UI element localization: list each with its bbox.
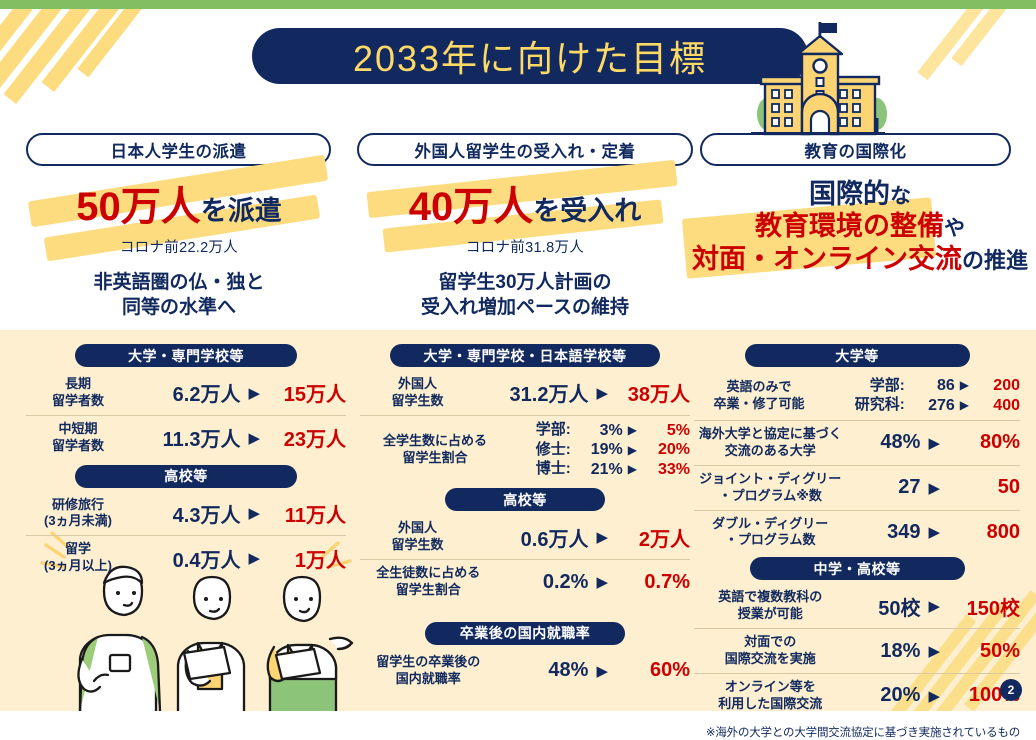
hero-subtext-line1: 非英語圏の仏・独と [20,270,338,295]
hero-headline: 40万人を受入れ [357,186,693,229]
row-label: 外国人留学生数 [360,376,475,410]
school-building-illustration [745,22,890,140]
arrow-icon: ▶ [596,573,608,591]
slide-title-pill: 2033年に向けた目標 [252,28,808,84]
category-pill: 大学・専門学校等 [75,344,297,367]
page-number: 2 [1000,679,1022,701]
row-label: 海外大学と協定に基づく交流のある大学 [694,426,846,460]
decorative-stripes-top-right [916,0,1036,130]
category-pill: 高校等 [75,465,297,488]
value-target: 23万人 [268,423,346,452]
category-pill: 大学・専門学校・日本語学校等 [390,344,660,367]
hero-headline: 50万人を派遣 [20,186,338,229]
row-values: 48% ▶ 60% [496,659,690,682]
hero-number: 40万人 [409,185,534,229]
value-target: 400 [974,396,1020,416]
row-label: ジョイント・ディグリー・プログラム※数 [694,471,846,505]
value-current: 11.3万人 [148,423,240,452]
hero-block-acceptance: 40万人を受入れ コロナ前31.8万人 留学生30万人計画の 受入れ増加ペースの… [357,186,693,321]
value-current: 18% [846,640,920,663]
table-row-multi: 全学生数に占める留学生割合 学部: 3% ▶ 5% 修士: 19% ▶ 20% … [360,415,690,485]
arrow-icon: ▶ [960,378,969,393]
value-target: 0.7% [616,571,690,594]
value-current: 19% [571,440,623,460]
row-values: 0.4万人 ▶ 1万人 [148,544,346,573]
arrow-icon: ▶ [628,462,637,477]
top-green-bar [0,0,1036,9]
value-target: 200 [974,376,1020,396]
table-row: 中短期留学者数 11.3万人 ▶ 23万人 [26,415,346,460]
arrow-icon: ▶ [928,687,940,705]
hero-suffix: を受入れ [533,196,641,226]
value-current: 48% [496,659,588,682]
hero-block-dispatch: 50万人を派遣 コロナ前22.2万人 非英語圏の仏・独と 同等の水準へ [20,186,338,321]
table-row: 研修旅行(3ヵ月未満) 4.3万人 ▶ 11万人 [26,492,346,536]
hero-line3-main: 対面・オンライン交流 [692,244,962,274]
table-row: ジョイント・ディグリー・プログラム※数 27 ▶ 50 [694,465,1020,510]
hero-subtext-line1: 留学生30万人計画の [357,270,693,295]
arrow-icon: ▶ [928,479,940,497]
value-current: 0.6万人 [496,523,588,552]
value-current: 31.2万人 [496,378,588,407]
category-label: 中学・高校等 [814,559,901,579]
table-row: 全生徒数に占める留学生割合 0.2% ▶ 0.7% [360,559,690,604]
value-current: 86 [905,376,955,396]
hero-suffix: を派遣 [201,196,282,226]
value-target: 33% [642,460,690,480]
table-row: 対面での国際交流を実施 18% ▶ 50% [694,628,1020,673]
row-values: 50校 ▶ 150校 [846,592,1020,621]
value-current: 3% [571,421,623,441]
arrow-icon: ▶ [596,528,608,546]
hero-subtext-line2: 同等の水準へ [20,295,338,320]
row-label: 中短期留学者数 [26,421,130,455]
hero-subtext-line2: 受入れ増加ペースの維持 [357,295,693,320]
arrow-icon: ▶ [928,642,940,660]
value-current: 0.4万人 [148,544,240,573]
arrow-icon: ▶ [928,523,940,541]
value-current: 349 [846,521,920,544]
row-label: 英語のみで卒業・修了可能 [694,379,824,413]
section-header-acceptance: 外国人留学生の受入れ・定着 [357,133,693,166]
row-label: 長期留学者数 [26,376,130,410]
data-column-acceptance: 大学・専門学校・日本語学校等 外国人留学生数 31.2万人 ▶ 38万人 全学生… [360,344,690,693]
sub-row: 学部: 86 ▶ 200 [835,376,1020,396]
table-row: 長期留学者数 6.2万人 ▶ 15万人 [26,371,346,415]
slide-title: 2033年に向けた目標 [353,30,707,82]
row-label: ダブル・ディグリー・プログラム数 [694,516,846,550]
value-target: 38万人 [616,378,690,407]
value-target: 2万人 [616,523,690,552]
data-column-internationalization: 大学等 英語のみで卒業・修了可能 学部: 86 ▶ 200 研究科: 276 ▶… [694,344,1020,740]
hero-line3-particle: の推進 [962,248,1028,273]
footnote: ※海外の大学との大学間交流協定に基づき実施されているもの [694,724,1020,740]
arrow-icon: ▶ [248,549,260,567]
row-values: 0.6万人 ▶ 2万人 [496,523,690,552]
value-target: 15万人 [268,378,346,407]
hero-line1: 国際的な [690,178,1030,210]
value-target: 5% [642,421,690,441]
category-label: 大学・専門学校・日本語学校等 [424,346,627,366]
value-target: 20% [642,440,690,460]
category-pill: 高校等 [445,488,605,511]
sub-row: 学部: 3% ▶ 5% [513,421,690,441]
value-current: 48% [846,431,920,454]
hero-block-internationalization: 国際的な 教育環境の整備や 対面・オンライン交流の推進 [690,178,1030,276]
slide-root: 2033年に向けた目標 日本人学生の派遣 外国人 [0,0,1036,711]
arrow-icon: ▶ [596,384,608,402]
value-current: 27 [846,476,920,499]
row-label: 英語で複数教科の授業が可能 [694,589,846,623]
hero-precovid: コロナ前31.8万人 [357,236,693,257]
hero-line2-particle: や [944,217,965,240]
table-row: 英語で複数教科の授業が可能 50校 ▶ 150校 [694,584,1020,628]
category-label: 大学等 [835,346,879,366]
arrow-icon: ▶ [928,597,940,615]
row-values-multi: 学部: 3% ▶ 5% 修士: 19% ▶ 20% 博士: 21% ▶ 33% [513,421,690,480]
arrow-icon: ▶ [248,429,260,447]
row-values-multi: 学部: 86 ▶ 200 研究科: 276 ▶ 400 [835,376,1020,415]
table-row: 海外大学と協定に基づく交流のある大学 48% ▶ 80% [694,420,1020,465]
value-target: 11万人 [268,499,346,528]
category-pill: 卒業後の国内就職率 [425,622,625,645]
arrow-icon: ▶ [928,434,940,452]
category-label: 卒業後の国内就職率 [460,623,591,643]
category-label: 大学・専門学校等 [128,346,244,366]
hero-line1-main: 国際的 [809,179,890,209]
row-values: 31.2万人 ▶ 38万人 [496,378,690,407]
row-values: 20% ▶ 100% [846,684,1020,707]
row-label: 全学生数に占める留学生割合 [360,433,510,467]
sub-row: 研究科: 276 ▶ 400 [835,396,1020,416]
sub-key: 学部: [835,377,905,395]
row-values: 27 ▶ 50 [846,476,1020,499]
value-target: 50 [948,476,1020,499]
section-header-label: 外国人留学生の受入れ・定着 [415,138,636,162]
section-header-label: 教育の国際化 [805,138,907,162]
hero-precovid: コロナ前22.2万人 [20,236,338,257]
value-current: 0.2% [496,571,588,594]
arrow-icon: ▶ [628,423,637,438]
value-current: 6.2万人 [148,378,240,407]
hero-line2-main: 教育環境の整備 [755,211,944,241]
row-label: オンライン等を利用した国際交流 [694,679,846,713]
decorative-stripes-top-left [0,9,167,109]
row-values: 11.3万人 ▶ 23万人 [148,423,346,452]
arrow-icon: ▶ [628,443,637,458]
value-target: 60% [616,659,690,682]
category-pill: 中学・高校等 [750,557,965,580]
value-current: 276 [905,396,955,416]
arrow-icon: ▶ [960,398,969,413]
arrow-icon: ▶ [248,384,260,402]
row-values: 48% ▶ 80% [846,431,1020,454]
sub-key: 研究科: [835,396,905,414]
row-label: 対面での国際交流を実施 [694,634,846,668]
value-target: 150校 [948,592,1020,621]
row-values: 6.2万人 ▶ 15万人 [148,378,346,407]
hero-line1-particle: な [890,185,911,208]
table-row: 留学(3ヵ月以上) 0.4万人 ▶ 1万人 [26,535,346,580]
row-values: 4.3万人 ▶ 11万人 [148,499,346,528]
row-label: 外国人留学生数 [360,520,475,554]
hero-line3: 対面・オンライン交流の推進 [690,243,1030,276]
value-target: 1万人 [268,544,346,573]
table-row: ダブル・ディグリー・プログラム数 349 ▶ 800 [694,510,1020,555]
value-target: 80% [948,431,1020,454]
row-values: 349 ▶ 800 [846,521,1020,544]
row-label: 留学(3ヵ月以上) [26,541,130,575]
value-current: 21% [571,460,623,480]
table-row-multi: 英語のみで卒業・修了可能 学部: 86 ▶ 200 研究科: 276 ▶ 400 [694,371,1020,420]
table-row: 外国人留学生数 0.6万人 ▶ 2万人 [360,515,690,559]
sub-row: 修士: 19% ▶ 20% [513,440,690,460]
row-label: 留学生の卒業後の国内就職率 [360,654,496,688]
value-target: 800 [948,521,1020,544]
row-label: 全生徒数に占める留学生割合 [360,565,496,599]
category-label: 高校等 [503,490,547,510]
value-current: 50校 [846,592,920,621]
table-row: 留学生の卒業後の国内就職率 48% ▶ 60% [360,649,690,693]
value-current: 4.3万人 [148,499,240,528]
row-values: 0.2% ▶ 0.7% [496,571,690,594]
value-target: 50% [948,640,1020,663]
value-current: 20% [846,684,920,707]
sub-row: 博士: 21% ▶ 33% [513,460,690,480]
sub-key: 学部: [513,421,571,439]
category-pill: 大学等 [745,344,970,367]
category-label: 高校等 [164,466,208,486]
row-values: 18% ▶ 50% [846,640,1020,663]
hero-number: 50万人 [76,185,201,229]
data-column-dispatch: 大学・専門学校等 長期留学者数 6.2万人 ▶ 15万人 中短期留学者数 11.… [26,344,346,580]
hero-line2: 教育環境の整備や [690,210,1030,243]
sub-key: 博士: [513,460,571,478]
row-label: 研修旅行(3ヵ月未満) [26,497,130,531]
section-header-label: 日本人学生の派遣 [111,138,247,162]
sub-key: 修士: [513,441,571,459]
table-row: 外国人留学生数 31.2万人 ▶ 38万人 [360,371,690,415]
table-row: オンライン等を利用した国際交流 20% ▶ 100% [694,673,1020,718]
arrow-icon: ▶ [596,662,608,680]
arrow-icon: ▶ [248,504,260,522]
